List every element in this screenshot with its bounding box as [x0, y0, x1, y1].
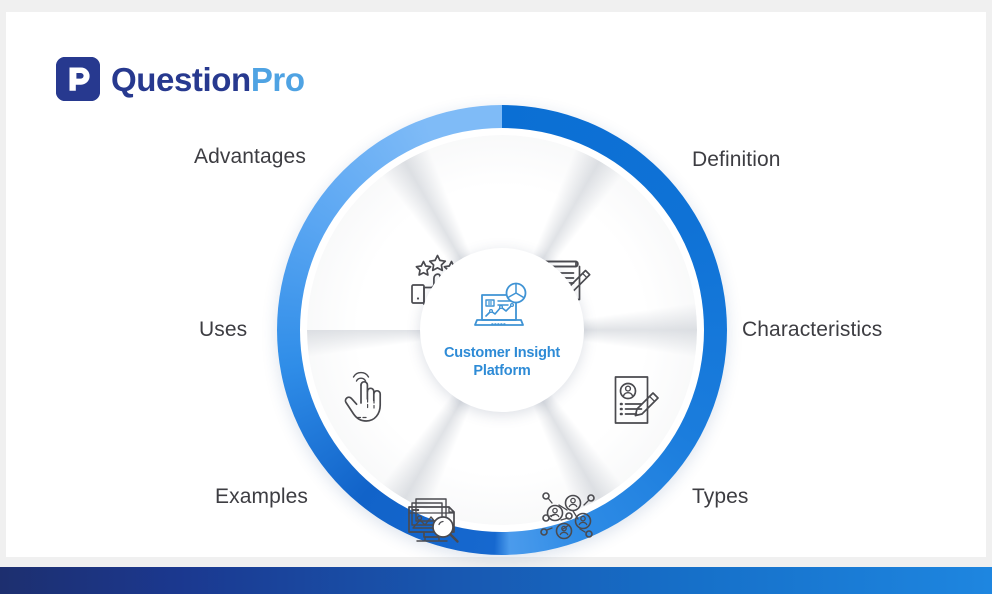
page-background: QuestionPro [0, 0, 992, 594]
brand-name: QuestionPro [111, 63, 305, 96]
laptop-analytics-dashboard-icon [470, 280, 534, 341]
wheel-center-hub[interactable]: Customer Insight Platform [420, 248, 584, 412]
questionpro-p-mark-icon [56, 57, 100, 101]
hand-tap-finger-icon[interactable] [329, 363, 403, 437]
label-examples[interactable]: Examples [215, 485, 308, 509]
circular-infographic-wheel: Customer Insight Platform [277, 105, 727, 555]
brand-name-primary: Question [111, 61, 251, 98]
brand-logo[interactable]: QuestionPro [56, 57, 305, 101]
label-types[interactable]: Types [692, 485, 749, 509]
footer-gradient-bar [0, 567, 992, 594]
profile-document-pencil-icon[interactable] [599, 363, 673, 437]
monitor-image-magnifier-icon[interactable] [401, 479, 475, 553]
label-advantages[interactable]: Advantages [194, 145, 306, 169]
center-label: Customer Insight Platform [444, 345, 560, 380]
user-network-nodes-icon[interactable] [531, 479, 605, 553]
label-characteristics[interactable]: Characteristics [742, 318, 882, 342]
brand-name-secondary: Pro [251, 61, 305, 98]
label-uses[interactable]: Uses [199, 318, 247, 342]
infographic-card: QuestionPro [6, 12, 986, 557]
label-definition[interactable]: Definition [692, 148, 781, 172]
